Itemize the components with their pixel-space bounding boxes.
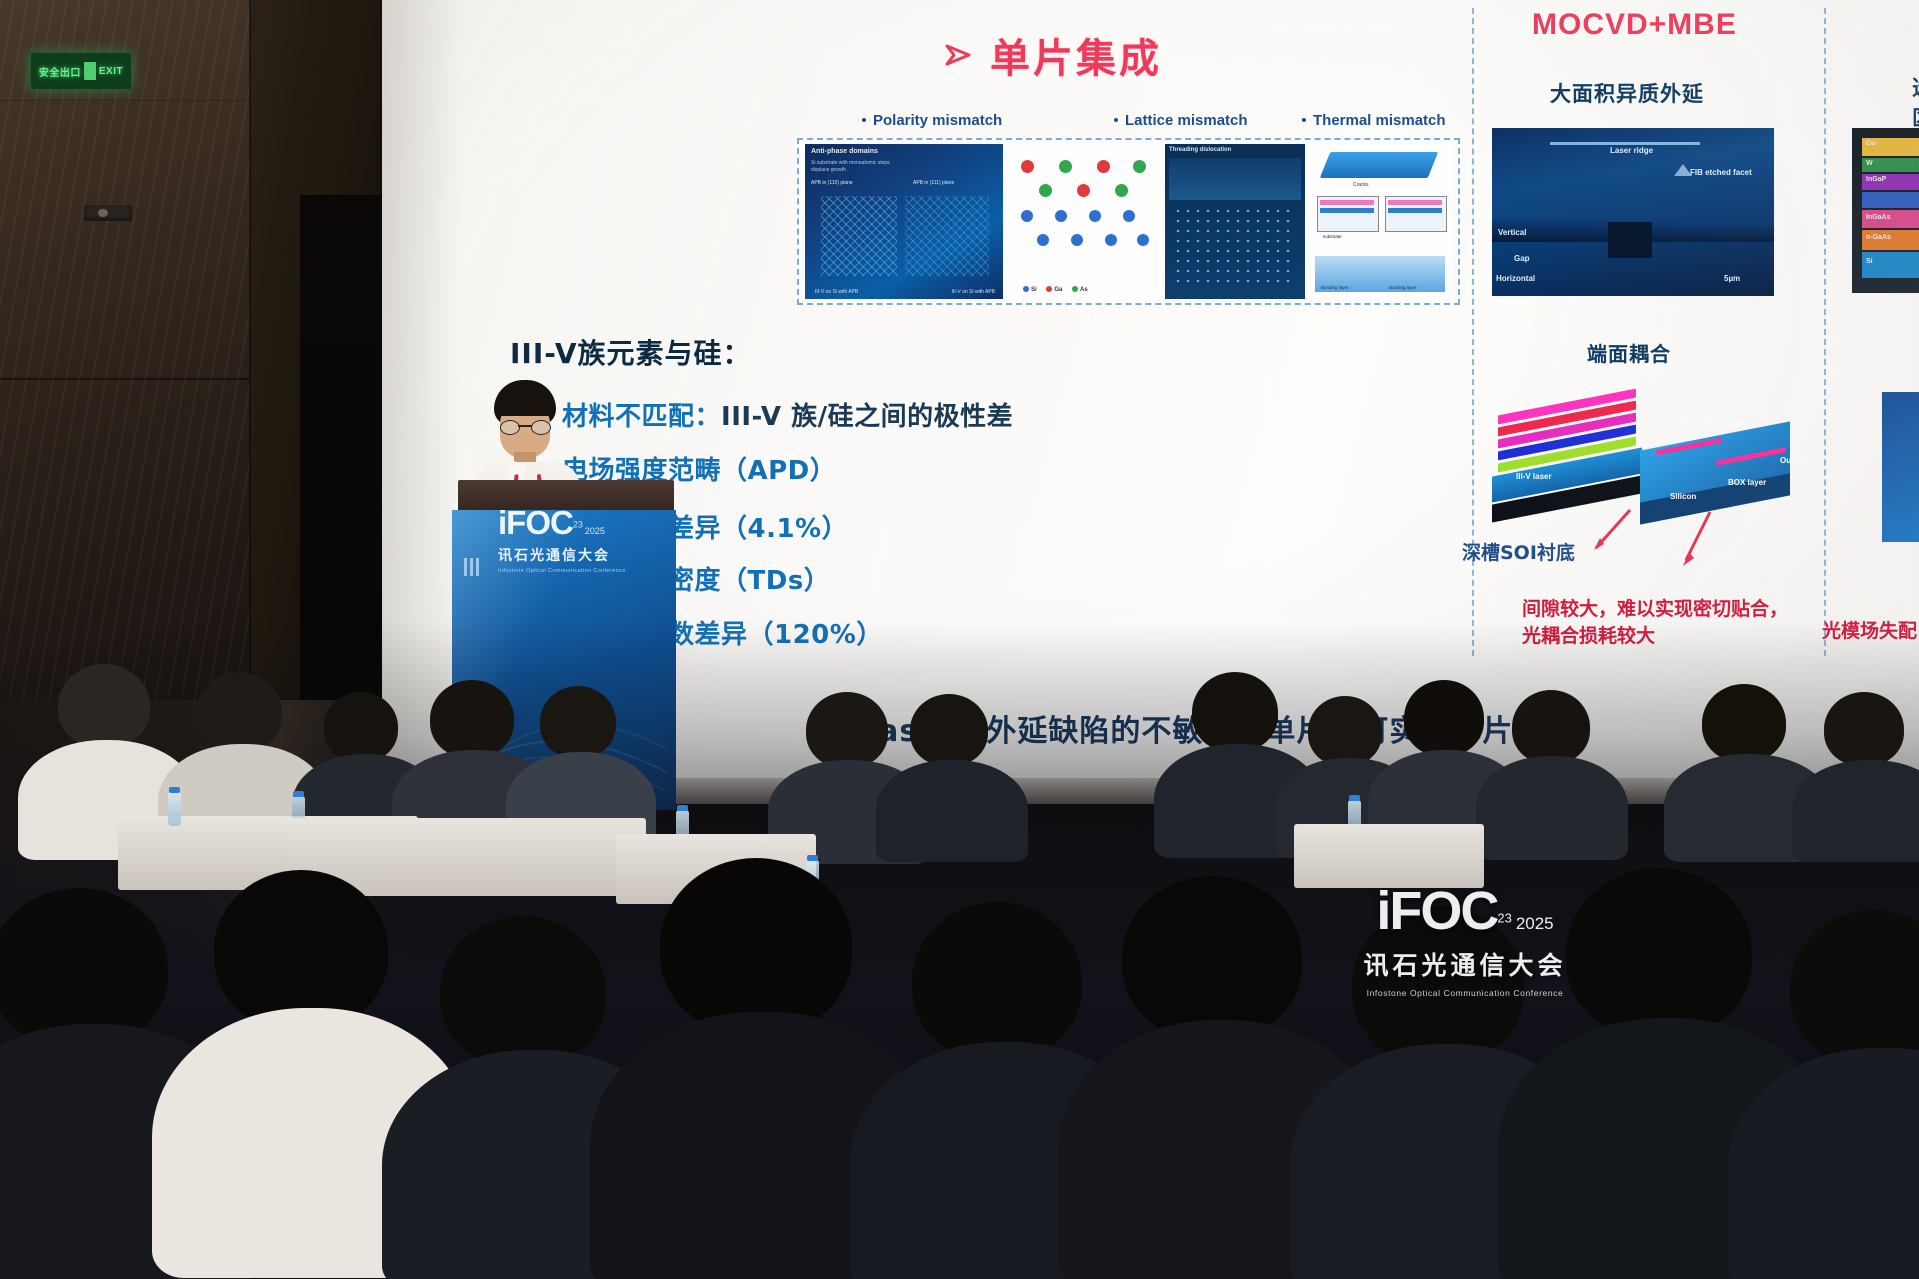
audience-head-front xyxy=(912,902,1082,1060)
sem-label-scalebar: 5µm xyxy=(1724,274,1740,283)
bottle-cap xyxy=(293,791,304,797)
running-person-icon xyxy=(84,62,96,80)
stack-label-ingap: InGaP xyxy=(1866,176,1886,183)
stack-label-ngaas: n-GaAs xyxy=(1866,234,1891,241)
podium-decor-bars xyxy=(464,558,480,576)
sem-micrograph: Laser ridge FIB etched facet Vertical Ga… xyxy=(1492,128,1774,296)
audience-head-front xyxy=(660,858,852,1034)
sem-etched-notch xyxy=(1608,222,1652,258)
ceiling-light-dot xyxy=(98,209,108,217)
audience-head xyxy=(806,692,888,768)
ceiling-fixture xyxy=(84,205,132,221)
coupling-label-silicon-waveguide: Silicon waveguide xyxy=(1676,418,1745,427)
podium-logo-en: Infostone Optical Communication Conferen… xyxy=(498,568,628,574)
presenter-glasses xyxy=(500,420,550,433)
podium-logo-sup: 23 xyxy=(573,520,583,530)
sem-label-horizontal: Horizontal xyxy=(1496,274,1535,283)
stack-label-ingaas: InGaAs xyxy=(1866,214,1891,221)
wall-seam xyxy=(0,100,250,101)
audience-shoulders xyxy=(1476,756,1628,860)
sem-label-gap: Gap xyxy=(1514,254,1530,263)
audience-head-front xyxy=(1790,910,1919,1066)
emergency-exit-sign: 安全出口 EXIT xyxy=(30,52,132,90)
far-right-mode-image xyxy=(1882,392,1919,542)
sem-label-fib-facet: FIB etched facet xyxy=(1690,168,1752,177)
audience-head xyxy=(910,694,988,766)
ifoc-watermark-logo: iFOC232025 讯石光通信大会 Infostone Optical Com… xyxy=(1335,880,1595,1020)
audience-head-front xyxy=(214,870,388,1030)
podium-logo-cn: 讯石光通信大会 xyxy=(498,545,628,565)
exit-sign-cn-label: 安全出口 xyxy=(39,64,81,79)
substrate-arrow-icon xyxy=(1590,508,1636,557)
wall-seam xyxy=(0,378,250,380)
gap-arrow-icon xyxy=(1676,510,1716,573)
presenter-hair-front xyxy=(496,396,554,416)
audience-head xyxy=(1404,680,1484,756)
audience-head xyxy=(58,664,150,748)
far-right-title: 选区 xyxy=(1912,72,1919,132)
coupling-label-silicon: Silicon xyxy=(1670,492,1696,501)
audience-shoulders xyxy=(1792,760,1919,862)
body-line-1-rest: III-V 族/硅之间的极性差 xyxy=(721,402,1013,432)
water-bottle xyxy=(168,792,181,826)
audience-head xyxy=(1512,690,1590,764)
bottle-cap xyxy=(807,855,818,861)
audience-head xyxy=(1192,672,1278,752)
audience-head xyxy=(1702,684,1786,762)
audience-head xyxy=(1824,692,1904,766)
coupling-label-iiiv-laser: III-V laser xyxy=(1516,472,1552,481)
watermark-cn: 讯石光通信大会 xyxy=(1335,946,1595,982)
stack-label-cu: Cu xyxy=(1866,140,1875,147)
body-line-1: 材料不匹配：III-V 族/硅之间的极性差 xyxy=(562,396,1013,433)
exit-sign-en-label: EXIT xyxy=(99,66,123,77)
podium-logo-year: 2025 xyxy=(585,526,605,536)
coupling-label-box-layer: BOX layer xyxy=(1728,478,1766,487)
edge-coupling-diagram: III-V laser Silicon waveguide Silicon BO… xyxy=(1480,392,1820,542)
stack-label-si: Si xyxy=(1866,258,1873,265)
right-column-subtitle-mid: 端面耦合 xyxy=(1587,338,1671,367)
body-heading: III-V族元素与硅： xyxy=(510,332,752,372)
watermark-en: Infostone Optical Communication Conferen… xyxy=(1335,988,1595,998)
column-divider-2 xyxy=(1824,8,1826,656)
audience-table xyxy=(1294,824,1484,888)
watermark-year: 2025 xyxy=(1516,914,1554,933)
stack-label-w: W xyxy=(1866,160,1873,167)
audience-head-front xyxy=(1122,876,1302,1040)
podium-logo-main: iFOC xyxy=(498,504,573,541)
audience-area xyxy=(0,620,1919,1279)
podium-logo: iFOC232025 讯石光通信大会 Infostone Optical Com… xyxy=(498,504,628,570)
right-column-subtitle-top: 大面积异质外延 xyxy=(1550,78,1704,108)
watermark-wordmark: iFOC232025 xyxy=(1335,880,1595,942)
far-right-stack-image: Cu W InGaP InGaAs n-GaAs Si xyxy=(1852,128,1919,293)
audience-shoulders xyxy=(876,760,1028,862)
right-column-title: MOCVD+MBE xyxy=(1532,8,1737,42)
audience-head-front xyxy=(440,916,606,1068)
sem-label-vertical: Vertical xyxy=(1498,228,1526,237)
podium-logo-wordmark: iFOC232025 xyxy=(498,504,628,542)
wall-texture xyxy=(0,0,250,700)
audience-head xyxy=(196,672,282,752)
wall-seam xyxy=(249,0,251,700)
conference-photo: 安全出口 EXIT 单片集成 Polarity mismatch Lattice… xyxy=(0,0,1919,1279)
bottle-cap xyxy=(677,805,688,811)
audience-head xyxy=(430,680,514,758)
watermark-sup: 23 xyxy=(1497,911,1511,926)
audience-head xyxy=(1308,696,1382,766)
bottle-cap xyxy=(1349,795,1360,801)
bottle-cap xyxy=(169,787,180,793)
coupling-label-output: Output xyxy=(1780,456,1806,465)
audience-head xyxy=(540,686,616,758)
audience-head xyxy=(324,692,398,762)
note-soi-substrate: 深槽SOI衬底 xyxy=(1462,540,1575,567)
laser-ridge-line xyxy=(1550,142,1700,145)
watermark-main: iFOC xyxy=(1376,881,1497,941)
sem-label-laser-ridge: Laser ridge xyxy=(1610,146,1653,155)
